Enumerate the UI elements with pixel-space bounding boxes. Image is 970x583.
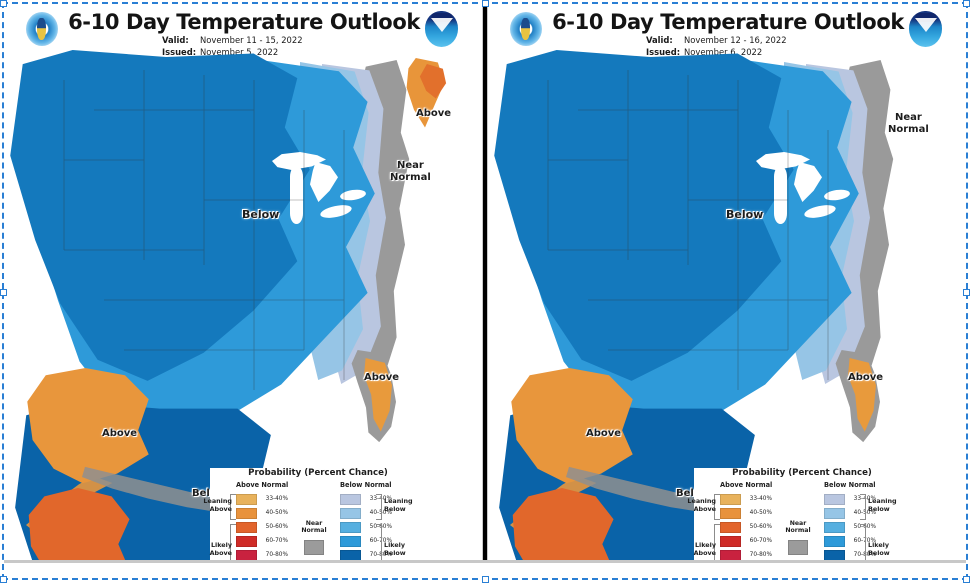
legend-row-above: 33-40%	[720, 492, 772, 506]
conus-outlook-map: Below NearNormal Above Above Below Proba…	[488, 50, 966, 450]
legend-row-below: 50-60%	[824, 520, 876, 534]
valid-label: Valid:	[646, 34, 684, 46]
legend-range-label: 33-40%	[744, 496, 772, 502]
legend-swatch-above	[236, 536, 257, 547]
legend-row-above: 40-50%	[720, 506, 772, 520]
brace-likely-below	[860, 524, 866, 560]
resize-handle-n[interactable]	[482, 0, 489, 7]
legend-swatch-near-normal	[788, 540, 808, 555]
resize-handle-se[interactable]	[963, 576, 970, 583]
legend-swatch-below	[340, 536, 361, 547]
valid-value: November 12 - 16, 2022	[684, 35, 787, 45]
resize-handle-e[interactable]	[963, 289, 970, 296]
legend-label-likely-above: LikelyAbove	[676, 542, 716, 557]
page-title: 6-10 Day Temperature Outlook	[548, 10, 908, 34]
noaa-seagull-icon	[909, 11, 942, 47]
brace-leaning-below	[376, 494, 382, 520]
legend-near-normal: NearNormal	[298, 520, 330, 555]
map-label-above-florida: Above	[364, 372, 399, 383]
legend-swatch-above	[720, 508, 741, 519]
page-title: 6-10 Day Temperature Outlook	[64, 10, 424, 34]
legend-row-below: 50-60%	[340, 520, 392, 534]
legend-label-likely-below: LikelyBelow	[868, 542, 912, 557]
lake-michigan	[774, 166, 787, 224]
legend-swatch-below	[824, 508, 845, 519]
brace-likely-below	[376, 524, 382, 560]
map-label-alaska-above: Above	[102, 428, 137, 439]
alaska-band-mid	[22, 488, 134, 560]
legend-row-above: 40-50%	[236, 506, 288, 520]
map-label-above-florida: Above	[848, 372, 883, 383]
legend-swatch-above	[720, 550, 741, 561]
legend-range-label: 50-60%	[260, 524, 288, 530]
legend-swatch-above	[236, 494, 257, 505]
legend-column-above: 33-40%40-50%50-60%60-70%70-80%80-90%90-1…	[236, 492, 288, 560]
map-label-near-normal: NearNormal	[390, 160, 431, 184]
conus-outlook-map: Below NearNormal Above Above Above Below…	[4, 50, 482, 450]
legend-swatch-above	[720, 536, 741, 547]
legend-row-above: 70-80%	[236, 548, 288, 560]
legend-range-label: 60-70%	[260, 538, 288, 544]
legend-range-label: 70-80%	[744, 552, 772, 558]
noaa-seagull-icon	[425, 11, 458, 47]
resize-handle-sw[interactable]	[0, 576, 7, 583]
legend-range-label: 50-60%	[744, 524, 772, 530]
resize-handle-s[interactable]	[482, 576, 489, 583]
legend-swatch-below	[824, 536, 845, 547]
map-label-below: Below	[726, 208, 763, 221]
legend-column-above: 33-40%40-50%50-60%60-70%70-80%80-90%90-1…	[720, 492, 772, 560]
legend-swatch-above	[720, 522, 741, 533]
legend-heading-below: Below Normal	[824, 481, 876, 489]
legend-row-above: 70-80%	[720, 548, 772, 560]
legend-label-leaning-below: LeaningBelow	[868, 498, 912, 513]
legend-label-leaning-below: LeaningBelow	[384, 498, 428, 513]
legend-swatch-near-normal	[304, 540, 324, 555]
outlook-panel-left: 6-10 Day Temperature Outlook Valid:Novem…	[4, 4, 482, 560]
legend-row-above: 50-60%	[236, 520, 288, 534]
legend-swatch-above	[720, 494, 741, 505]
legend-range-label: 70-80%	[260, 552, 288, 558]
resize-handle-ne[interactable]	[963, 0, 970, 7]
legend-swatch-below	[824, 550, 845, 561]
legend-swatch-below	[340, 508, 361, 519]
outlook-panel-right: 6-10 Day Temperature Outlook Valid:Novem…	[488, 4, 966, 560]
legend-range-label: 60-70%	[744, 538, 772, 544]
brace-leaning-below	[860, 494, 866, 520]
nws-seal-icon	[510, 12, 542, 46]
legend-row-above: 60-70%	[236, 534, 288, 548]
legend-range-label: 40-50%	[260, 510, 288, 516]
legend-label-leaning-above: LeaningAbove	[192, 498, 232, 513]
legend-title: Probability (Percent Chance)	[694, 468, 910, 478]
legend-label-leaning-above: LeaningAbove	[676, 498, 716, 513]
valid-label: Valid:	[162, 34, 200, 46]
panel-header-right: 6-10 Day Temperature Outlook Valid:Novem…	[488, 6, 966, 52]
map-label-above-maine: Above	[416, 108, 451, 119]
legend-swatch-below	[340, 494, 361, 505]
legend-near-normal: NearNormal	[782, 520, 814, 555]
legend-swatch-below	[824, 522, 845, 533]
legend-heading-above: Above Normal	[720, 481, 772, 489]
alaska-band-mid	[506, 488, 618, 560]
panel-header-left: 6-10 Day Temperature Outlook Valid:Novem…	[4, 6, 482, 52]
legend-swatch-below	[340, 550, 361, 561]
valid-value: November 11 - 15, 2022	[200, 35, 303, 45]
map-label-near-normal: NearNormal	[888, 112, 929, 136]
legend-label-likely-above: LikelyAbove	[192, 542, 232, 557]
map-label-below: Below	[242, 208, 279, 221]
legend-swatch-above	[236, 550, 257, 561]
legend-row-above: 50-60%	[720, 520, 772, 534]
legend-heading-above: Above Normal	[236, 481, 288, 489]
resize-handle-nw[interactable]	[0, 0, 7, 7]
legend-swatch-above	[236, 522, 257, 533]
legend-swatch-below	[824, 494, 845, 505]
lake-michigan	[290, 166, 303, 224]
legend-swatch-below	[340, 522, 361, 533]
nws-seal-icon	[26, 12, 58, 46]
legend-range-label: 33-40%	[260, 496, 288, 502]
legend-heading-below: Below Normal	[340, 481, 392, 489]
probability-legend: Probability (Percent Chance) Above Norma…	[694, 468, 910, 560]
map-label-alaska-above: Above	[586, 428, 621, 439]
legend-title: Probability (Percent Chance)	[210, 468, 426, 478]
outlook-image-pair: 6-10 Day Temperature Outlook Valid:Novem…	[4, 4, 966, 560]
resize-handle-w[interactable]	[0, 289, 7, 296]
probability-legend: Probability (Percent Chance) Above Norma…	[210, 468, 426, 560]
legend-row-above: 60-70%	[720, 534, 772, 548]
legend-range-label: 40-50%	[744, 510, 772, 516]
legend-row-above: 33-40%	[236, 492, 288, 506]
legend-swatch-above	[236, 508, 257, 519]
legend-label-likely-below: LikelyBelow	[384, 542, 428, 557]
